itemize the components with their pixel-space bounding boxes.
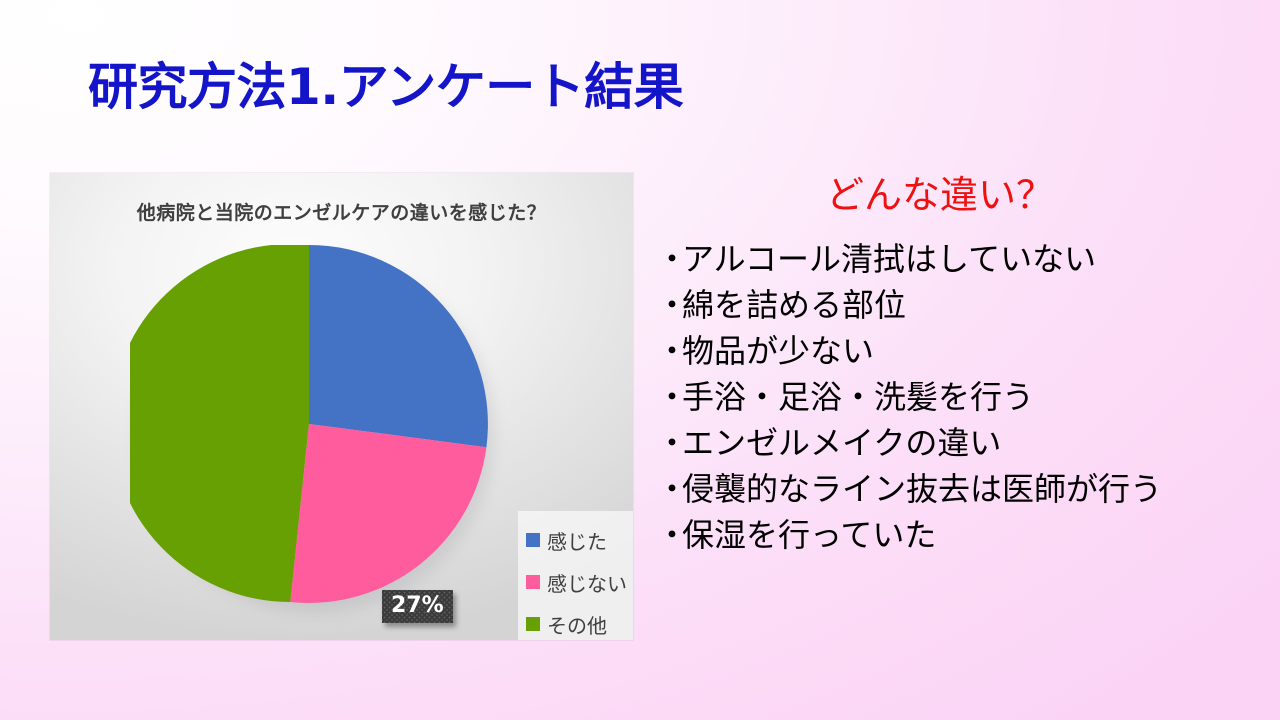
pie-slice-kanjinai[interactable] [290,424,486,603]
section-heading: どんな違い？ [660,172,1220,218]
list-item: ・ 物品が少ない [656,328,1256,374]
bullet-marker-icon: ・ [656,512,682,558]
legend-item-sonota[interactable]: その他 [526,603,631,640]
list-item: ・ 手浴・足浴・洗髪を行う [656,374,1256,420]
bullet-marker-icon: ・ [656,282,682,328]
list-item-label: 物品が少ない [682,328,1256,374]
legend-label-kanjita: 感じた [547,526,607,555]
bullet-marker-icon: ・ [656,374,682,420]
bullet-marker-icon: ・ [656,236,682,282]
list-item-label: 侵襲的なライン抜去は医師が行う [682,466,1256,512]
list-item: ・ 保湿を行っていた [656,512,1256,558]
legend-swatch-blue-icon [526,533,540,547]
list-item-label: 綿を詰める部位 [682,282,1256,328]
list-item-label: 手浴・足浴・洗髪を行う [682,374,1256,420]
pie-data-label-kanjita: 27% [382,590,453,623]
bullet-marker-icon: ・ [656,420,682,466]
list-item-label: アルコール清拭はしていない [682,236,1256,282]
chart-title: 他病院と当院のエンゼルケアの違いを感じた？ [50,198,633,225]
bullet-list: ・ アルコール清拭はしていない ・ 綿を詰める部位 ・ 物品が少ない ・ 手浴・… [656,236,1256,558]
list-item-label: 保湿を行っていた [682,512,1256,558]
pie-chart: 27% 18% 55% [130,245,500,615]
pie-slice-sonota[interactable] [130,245,309,602]
chart-legend: 感じた 感じない その他 総数45名 [518,511,633,640]
pie-slice-kanjita[interactable] [309,245,488,447]
pie-svg [130,245,488,603]
legend-swatch-green-icon [526,617,540,631]
legend-item-kanjinai[interactable]: 感じない [526,561,631,603]
legend-label-sonota: その他 [547,610,607,639]
bullet-marker-icon: ・ [656,328,682,374]
list-item: ・ アルコール清拭はしていない [656,236,1256,282]
presentation-slide: 研究方法1.アンケート結果 他病院と当院のエンゼルケアの違いを感じた？ 27% … [0,0,1280,720]
bullet-marker-icon: ・ [656,466,682,512]
pie-chart-panel[interactable]: 他病院と当院のエンゼルケアの違いを感じた？ 27% 18% 55% 感じた [50,173,633,640]
list-item-label: エンゼルメイクの違い [682,420,1256,466]
legend-swatch-pink-icon [526,575,540,589]
legend-item-kanjita[interactable]: 感じた [526,519,631,561]
legend-label-kanjinai: 感じない [547,568,627,597]
page-title: 研究方法1.アンケート結果 [88,56,683,118]
list-item: ・ エンゼルメイクの違い [656,420,1256,466]
list-item: ・ 綿を詰める部位 [656,282,1256,328]
list-item: ・ 侵襲的なライン抜去は医師が行う [656,466,1256,512]
